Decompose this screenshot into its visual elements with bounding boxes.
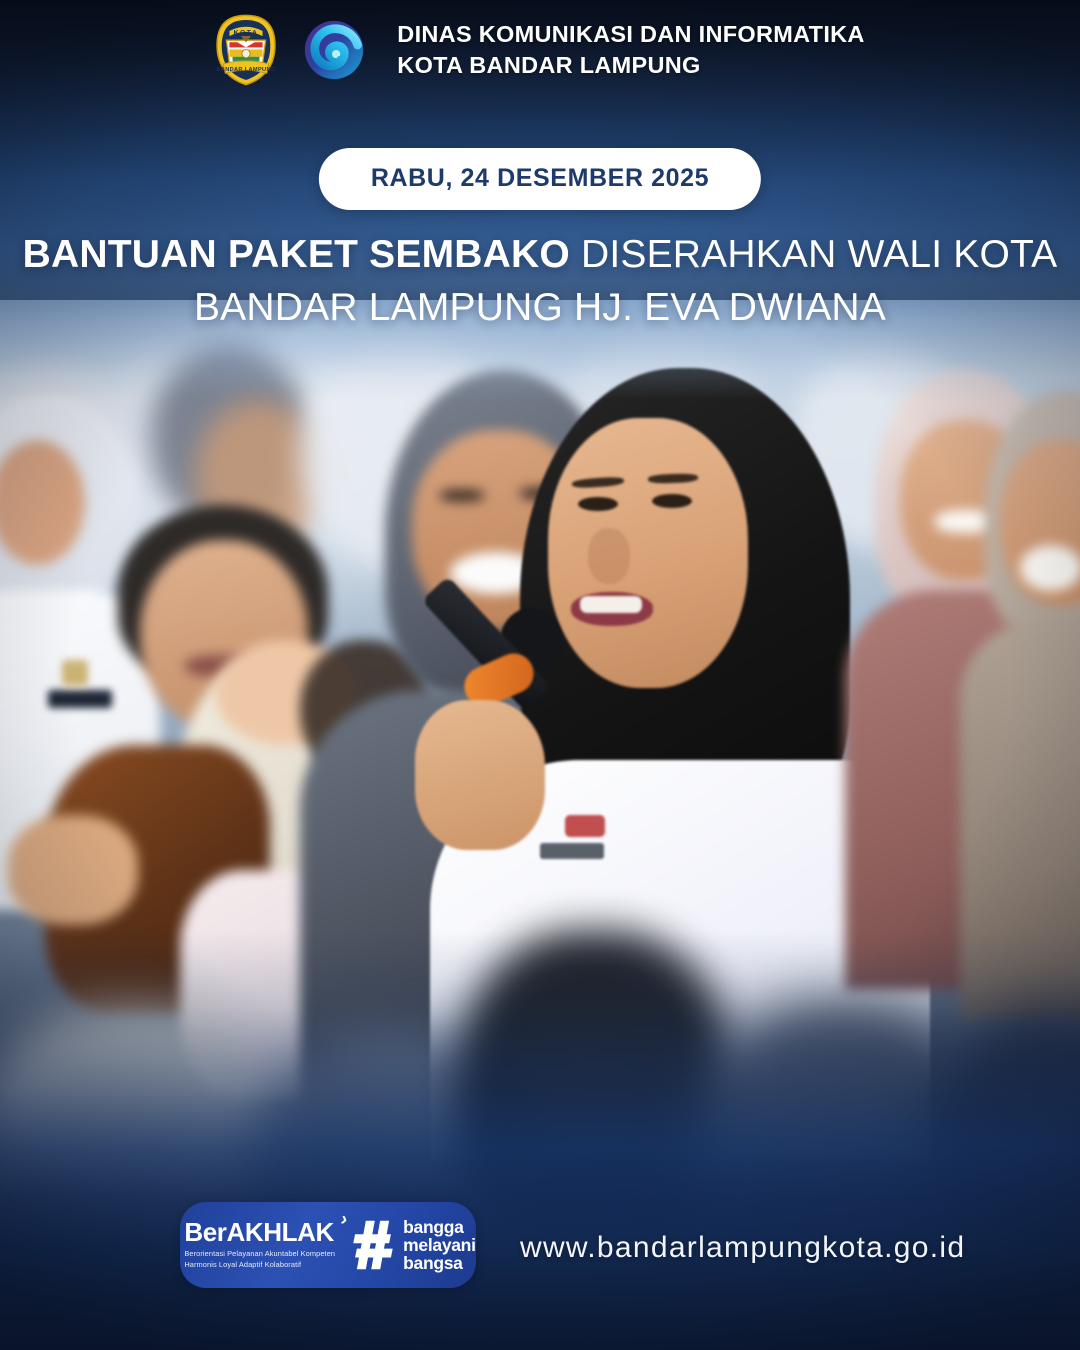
tagline-line-3: bangsa (403, 1254, 476, 1272)
berakhlak-badge: BerAKHLAK› Berorientasi Pelayanan Akunta… (180, 1202, 476, 1288)
headline-line-1: BANTUAN PAKET SEMBAKO DISERAHKAN WALI KO… (0, 228, 1080, 281)
headline-line-2: BANDAR LAMPUNG HJ. EVA DWIANA (0, 281, 1080, 334)
organization-line-1: DINAS KOMUNIKASI DAN INFORMATIKA (397, 19, 864, 50)
organization-title: DINAS KOMUNIKASI DAN INFORMATIKA KOTA BA… (397, 19, 864, 80)
wali-kota-nose (588, 528, 630, 584)
poster-canvas: KOTA BANDAR LAMPUNG (0, 0, 1080, 1350)
wali-kota-shirt-text (540, 843, 604, 859)
tagline-line-2: melayani (403, 1236, 476, 1254)
uniform-badge (48, 690, 112, 708)
berakhlak-subtitle-2: Harmonis Loyal Adaptif Kolaboratif (184, 1260, 335, 1271)
wali-kota-eye (652, 494, 692, 508)
website-url[interactable]: www.bandarlampungkota.go.id (520, 1231, 965, 1265)
tagline-line-1: bangga (403, 1218, 476, 1236)
berakhlak-tagline: bangga melayani bangsa (403, 1218, 476, 1273)
kominfo-wave-logo-icon (303, 19, 365, 81)
svg-text:KOTA: KOTA (234, 30, 259, 37)
headline: BANTUAN PAKET SEMBAKO DISERAHKAN WALI KO… (0, 228, 1080, 334)
berakhlak-text-block: BerAKHLAK› Berorientasi Pelayanan Akunta… (180, 1219, 335, 1270)
poster-footer: BerAKHLAK› Berorientasi Pelayanan Akunta… (0, 1202, 1080, 1294)
uniform-emblem (62, 660, 88, 686)
wali-kota-teeth (580, 596, 642, 613)
berakhlak-tick-icon: › (339, 1210, 349, 1230)
berakhlak-title-wrap: BerAKHLAK› (184, 1219, 334, 1245)
headline-bold-part: BANTUAN PAKET SEMBAKO (23, 233, 570, 276)
person-hand (8, 815, 138, 925)
person-eye (440, 490, 484, 501)
person-open-smile (1020, 545, 1080, 591)
berakhlak-title: BerAKHLAK (184, 1217, 334, 1247)
bandar-lampung-city-emblem-icon: KOTA BANDAR LAMPUNG (215, 13, 277, 87)
organization-line-2: KOTA BANDAR LAMPUNG (397, 50, 864, 81)
headline-light-part: DISERAHKAN WALI KOTA (570, 233, 1057, 276)
wali-kota-shirt-logo (565, 815, 605, 837)
berakhlak-subtitle-1: Berorientasi Pelayanan Akuntabel Kompete… (184, 1249, 335, 1260)
date-badge: RABU, 24 DESEMBER 2025 (319, 148, 761, 210)
bangga-melayani-bangsa-hash-icon (353, 1219, 393, 1271)
wali-kota-eye (578, 497, 618, 511)
poster-header: KOTA BANDAR LAMPUNG (0, 0, 1080, 100)
svg-text:BANDAR LAMPUNG: BANDAR LAMPUNG (217, 67, 276, 73)
wali-kota-face (548, 418, 748, 688)
wali-kota-hand (415, 700, 545, 850)
